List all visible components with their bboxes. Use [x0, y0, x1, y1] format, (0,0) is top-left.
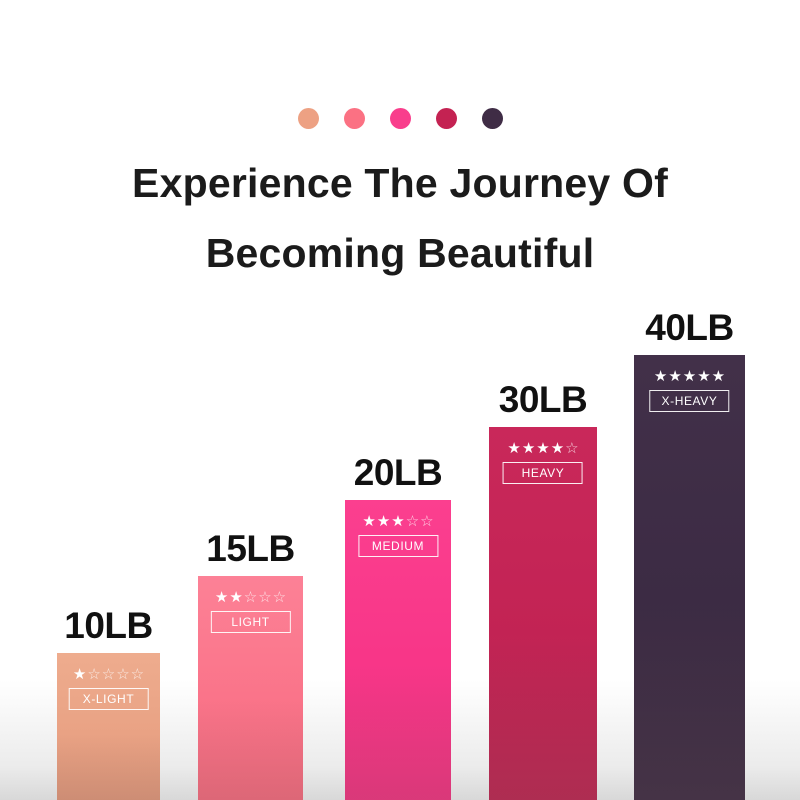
- star-filled-icon: ★: [507, 441, 520, 456]
- star-filled-icon: ★: [712, 369, 725, 384]
- star-filled-icon: ★: [551, 441, 564, 456]
- star-empty-icon: ☆: [131, 667, 144, 682]
- bar-badge: ★★☆☆☆LIGHT: [205, 590, 295, 633]
- star-filled-icon: ★: [522, 441, 535, 456]
- star-empty-icon: ☆: [258, 590, 271, 605]
- bar-group-light[interactable]: 15LB★★☆☆☆LIGHT: [198, 576, 303, 800]
- bar-fill: ★★★★★X-HEAVY: [634, 355, 745, 800]
- bar-group-x-light[interactable]: 10LB★☆☆☆☆X-LIGHT: [57, 653, 160, 800]
- star-rating: ★★★☆☆: [362, 514, 433, 529]
- bar-weight-label: 15LB: [206, 528, 294, 570]
- star-empty-icon: ☆: [244, 590, 257, 605]
- bar-group-heavy[interactable]: 30LB★★★★☆HEAVY: [489, 427, 597, 800]
- bar-weight-label: 30LB: [499, 379, 587, 421]
- star-filled-icon: ★: [536, 441, 549, 456]
- star-filled-icon: ★: [377, 514, 390, 529]
- star-filled-icon: ★: [73, 667, 86, 682]
- level-label: LIGHT: [210, 611, 290, 633]
- star-filled-icon: ★: [362, 514, 375, 529]
- bar-fill: ★☆☆☆☆X-LIGHT: [57, 653, 160, 800]
- bar-weight-label: 40LB: [645, 307, 733, 349]
- star-empty-icon: ☆: [273, 590, 286, 605]
- poster-canvas: Experience The Journey Of Becoming Beaut…: [0, 0, 800, 800]
- star-filled-icon: ★: [683, 369, 696, 384]
- bar-badge: ★★★★☆HEAVY: [497, 441, 590, 484]
- bar-badge: ★★★☆☆MEDIUM: [352, 514, 443, 557]
- bar-fill: ★★★★☆HEAVY: [489, 427, 597, 800]
- star-empty-icon: ☆: [102, 667, 115, 682]
- star-rating: ★☆☆☆☆: [73, 667, 144, 682]
- bar-weight-label: 10LB: [64, 605, 152, 647]
- level-label: HEAVY: [503, 462, 583, 484]
- star-filled-icon: ★: [229, 590, 242, 605]
- bar-weight-label: 20LB: [354, 452, 442, 494]
- resistance-band-bar-chart: 10LB★☆☆☆☆X-LIGHT15LB★★☆☆☆LIGHT20LB★★★☆☆M…: [0, 0, 800, 800]
- bar-group-x-heavy[interactable]: 40LB★★★★★X-HEAVY: [634, 355, 745, 800]
- bar-group-medium[interactable]: 20LB★★★☆☆MEDIUM: [345, 500, 451, 800]
- bar-fill: ★★★☆☆MEDIUM: [345, 500, 451, 800]
- star-filled-icon: ★: [697, 369, 710, 384]
- level-label: MEDIUM: [358, 535, 438, 557]
- star-filled-icon: ★: [391, 514, 404, 529]
- level-label: X-HEAVY: [649, 390, 729, 412]
- star-empty-icon: ☆: [565, 441, 578, 456]
- star-empty-icon: ☆: [116, 667, 129, 682]
- star-rating: ★★★★★: [654, 369, 725, 384]
- bar-badge: ★★★★★X-HEAVY: [642, 369, 737, 412]
- star-rating: ★★★★☆: [507, 441, 578, 456]
- star-empty-icon: ☆: [420, 514, 433, 529]
- star-empty-icon: ☆: [87, 667, 100, 682]
- bar-badge: ★☆☆☆☆X-LIGHT: [64, 667, 153, 710]
- star-filled-icon: ★: [668, 369, 681, 384]
- level-label: X-LIGHT: [68, 688, 148, 710]
- star-empty-icon: ☆: [406, 514, 419, 529]
- star-filled-icon: ★: [215, 590, 228, 605]
- star-filled-icon: ★: [654, 369, 667, 384]
- bar-fill: ★★☆☆☆LIGHT: [198, 576, 303, 800]
- star-rating: ★★☆☆☆: [215, 590, 286, 605]
